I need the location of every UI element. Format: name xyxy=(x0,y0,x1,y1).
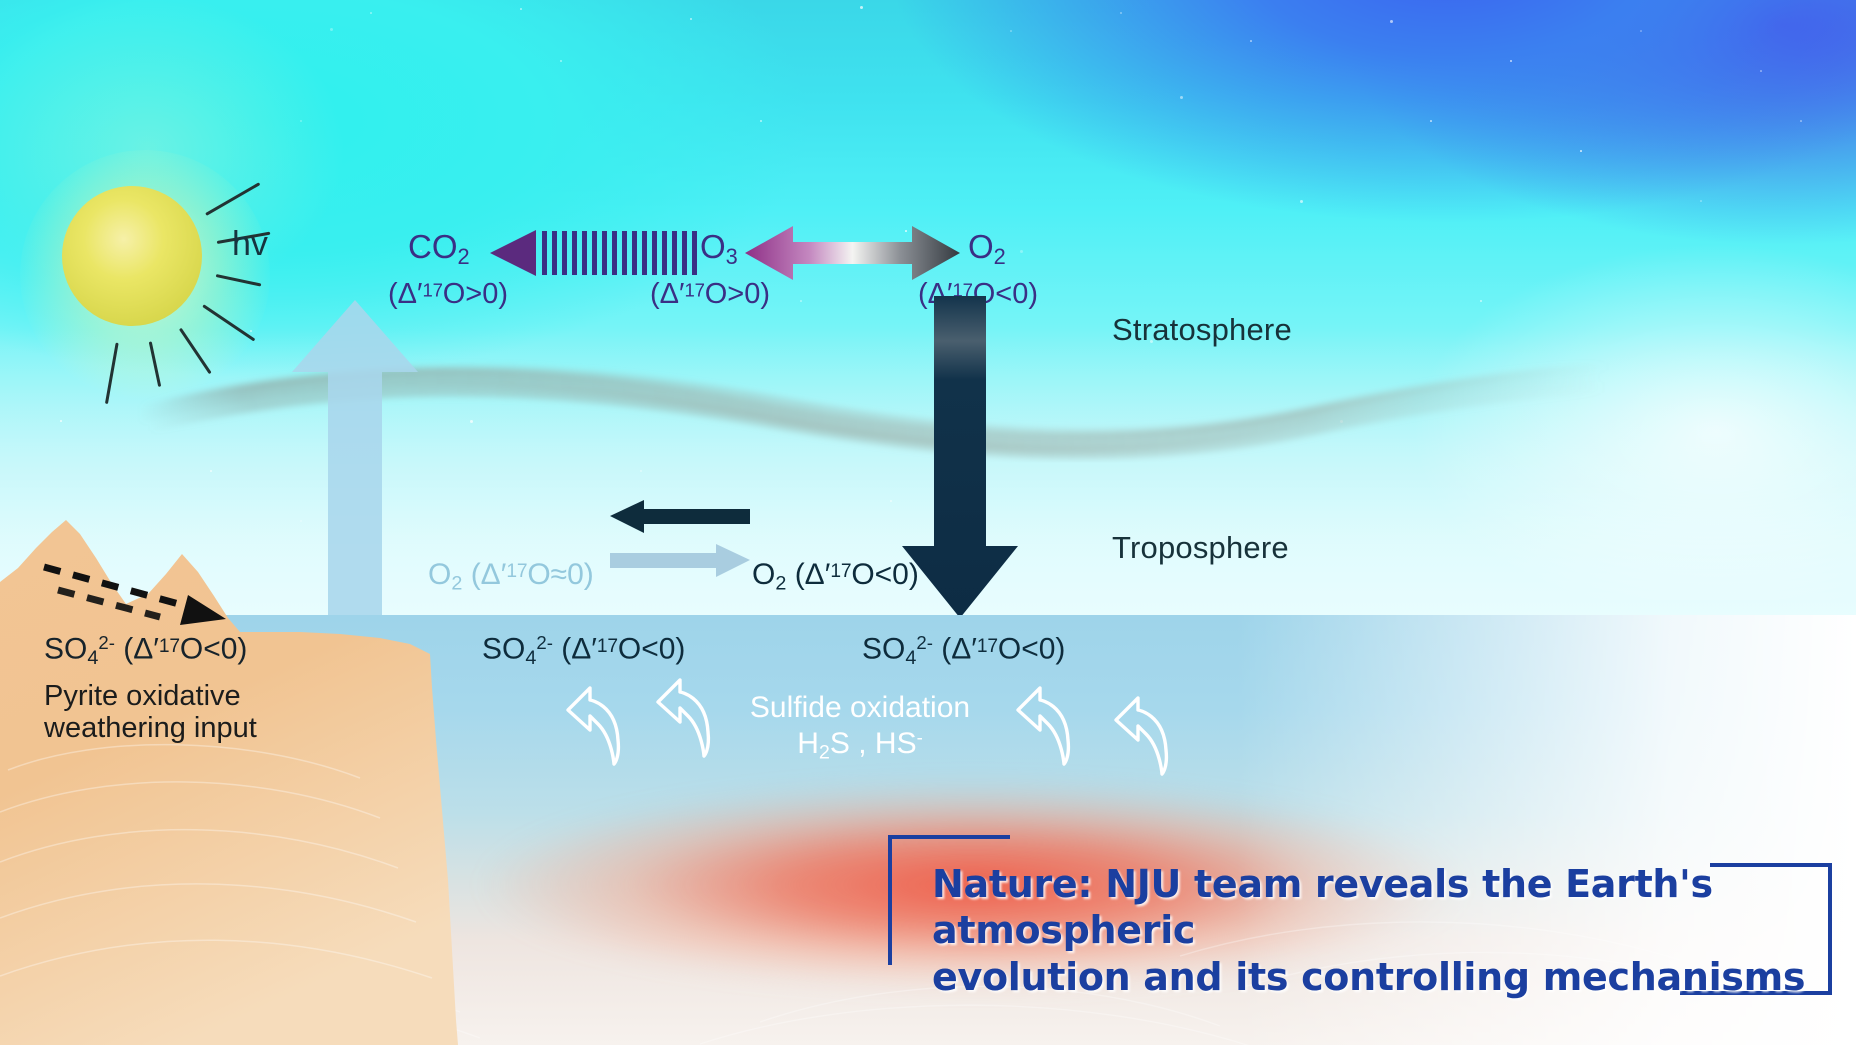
sulfate-land-sup: 2- xyxy=(98,632,115,653)
sulfate-mid-prefix: SO xyxy=(482,633,525,666)
co2-formula: CO xyxy=(408,228,458,265)
sulfate-mid-iso: 17 xyxy=(597,636,618,657)
caption-banner: Nature: NJU team reveals the Earth's atm… xyxy=(880,825,1840,995)
co2-anomaly-iso: 17 xyxy=(422,279,442,300)
sulfate-right-label: SO42- (Δ′17O<0) xyxy=(862,632,1065,670)
pyrite-weathering-note: Pyrite oxidative weathering input xyxy=(44,680,257,745)
sulfide-curl-arrow xyxy=(560,680,634,768)
o2-strato-formula: O xyxy=(968,228,994,265)
co2-anomaly-suffix: O>0) xyxy=(443,278,508,310)
sulfate-land-iso: 17 xyxy=(159,636,180,657)
species-o3: O3 xyxy=(700,228,738,270)
sulfate-right-sup: 2- xyxy=(916,632,933,653)
caption-line1: Nature: NJU team reveals the Earth's atm… xyxy=(932,861,1812,954)
sulfide-curl-arrow xyxy=(1010,680,1084,768)
sulfide-species: H2S , HS- xyxy=(797,726,923,765)
trop-right-arrow xyxy=(610,544,750,577)
sulfate-right-sub: 4 xyxy=(905,647,916,669)
trop-left-arrow xyxy=(610,500,750,533)
troposphere-arrow-pair xyxy=(610,498,750,580)
sulfide-oxidation-note: Sulfide oxidation H2S , HS- xyxy=(740,690,980,765)
sulfate-right-suffix: O<0) xyxy=(998,633,1066,666)
sulfate-land-suffix: O<0) xyxy=(180,633,248,666)
sulfate-right-mid: (Δ′ xyxy=(933,633,977,666)
caption-text: Nature: NJU team reveals the Earth's atm… xyxy=(932,861,1812,1000)
sulfate-right-iso: 17 xyxy=(977,636,998,657)
species-co2: CO2 xyxy=(408,228,470,270)
caption-line2: evolution and its controlling mechanisms xyxy=(932,954,1812,1000)
sulfide-note-line1: Sulfide oxidation xyxy=(740,690,980,726)
sulfate-mid-sup: 2- xyxy=(536,632,553,653)
sun-icon xyxy=(62,186,202,326)
layer-label-troposphere: Troposphere xyxy=(1112,530,1289,566)
o2-dark-mid: (Δ′ xyxy=(786,558,830,591)
o2-dark-iso: 17 xyxy=(830,561,851,582)
o3-anomaly-iso: 17 xyxy=(684,279,704,300)
species-o2-trop-dark: O2 (Δ′17O<0) xyxy=(752,558,919,596)
co2-conversion-arrow xyxy=(490,228,710,278)
sulfide-curl-arrow xyxy=(1108,690,1182,778)
diagram-canvas: hv CO2 (Δ′17O>0) xyxy=(0,0,1856,1045)
o2-dark-prefix: O xyxy=(752,558,775,591)
sulfate-mid-mid: (Δ′ xyxy=(553,633,597,666)
sulfate-mid-label: SO42- (Δ′17O<0) xyxy=(482,632,685,670)
o3-o2-exchange-arrow xyxy=(745,222,960,284)
o2-strato-subscript: 2 xyxy=(994,244,1006,269)
o2-dark-suffix: O<0) xyxy=(851,558,919,591)
h2s-sub: 2 xyxy=(819,742,830,764)
sulfate-right-prefix: SO xyxy=(862,633,905,666)
o2-dark-sub: 2 xyxy=(775,573,786,595)
sulfate-land-label: SO42- (Δ′17O<0) xyxy=(44,632,247,670)
pyrite-note-line1: Pyrite oxidative xyxy=(44,680,257,712)
weathering-dashed-arrow xyxy=(40,545,230,640)
sulfate-mid-suffix: O<0) xyxy=(618,633,686,666)
o3-formula: O xyxy=(700,228,726,265)
sulfide-curl-arrow xyxy=(650,672,724,760)
co2-subscript: 2 xyxy=(458,244,470,269)
sulfate-land-sub: 4 xyxy=(87,647,98,669)
h2s-mid: S , HS xyxy=(830,727,917,760)
o3-anomaly-prefix: (Δ′ xyxy=(650,278,684,310)
species-o2-strato: O2 xyxy=(968,228,1006,270)
sulfate-land-prefix: SO xyxy=(44,633,87,666)
layer-label-stratosphere: Stratosphere xyxy=(1112,312,1292,348)
h2s-prefix: H xyxy=(797,727,819,760)
o3-subscript: 3 xyxy=(726,244,738,269)
photon-label: hv xyxy=(232,225,268,264)
pyrite-note-line2: weathering input xyxy=(44,712,257,744)
sulfate-mid-sub: 4 xyxy=(525,647,536,669)
hs-sup: - xyxy=(917,726,923,747)
sulfate-land-mid: (Δ′ xyxy=(115,633,159,666)
